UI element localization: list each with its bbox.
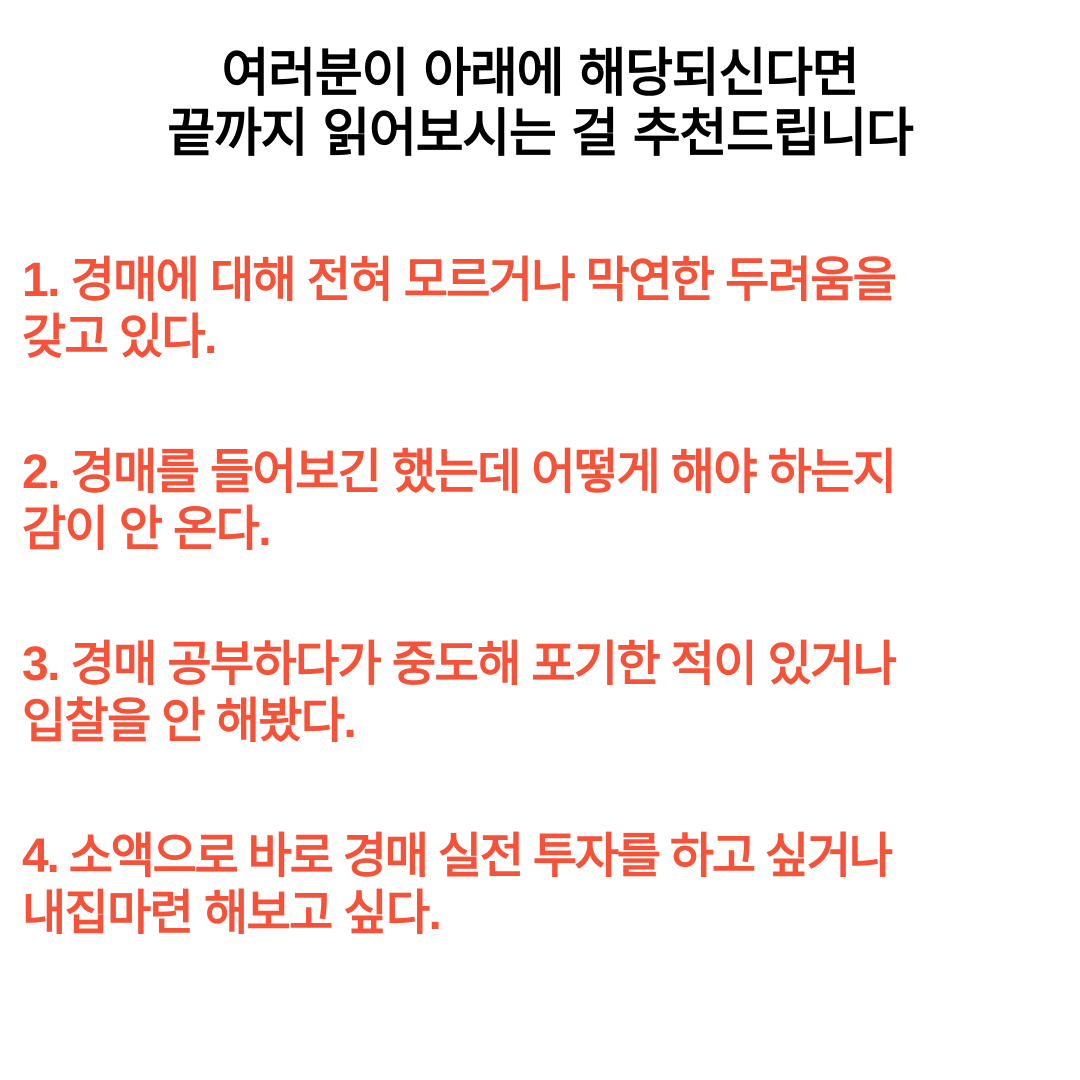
page-title-line-1: 여러분이 아래에 해당되신다면 (0, 44, 1080, 104)
list-item-4-line-1: 4. 소액으로 바로 경매 실전 투자를 하고 싶거나 (22, 828, 1080, 885)
list-item: 2. 경매를 들어보긴 했는데 어떻게 해야 하는지 감이 안 온다. (22, 444, 1080, 636)
list-item-2-line-2: 감이 안 온다. (22, 501, 1080, 558)
list-item-1-line-1: 1. 경매에 대해 전혀 모르거나 막연한 두려움을 (22, 252, 1080, 309)
list-item-1-line-2: 갖고 있다. (22, 309, 1080, 366)
list-item: 1. 경매에 대해 전혀 모르거나 막연한 두려움을 갖고 있다. (22, 252, 1080, 444)
list-item-4-line-2: 내집마련 해보고 싶다. (22, 885, 1080, 942)
checklist: 1. 경매에 대해 전혀 모르거나 막연한 두려움을 갖고 있다. 2. 경매를… (22, 252, 1080, 942)
list-item-2-line-1: 2. 경매를 들어보긴 했는데 어떻게 해야 하는지 (22, 444, 1080, 501)
list-item: 3. 경매 공부하다가 중도해 포기한 적이 있거나 입찰을 안 해봤다. (22, 636, 1080, 828)
list-item: 4. 소액으로 바로 경매 실전 투자를 하고 싶거나 내집마련 해보고 싶다. (22, 828, 1080, 942)
poster-canvas: 여러분이 아래에 해당되신다면 끝까지 읽어보시는 걸 추천드립니다 1. 경매… (0, 0, 1080, 1080)
list-item-3-line-1: 3. 경매 공부하다가 중도해 포기한 적이 있거나 (22, 636, 1080, 693)
list-item-3-line-2: 입찰을 안 해봤다. (22, 693, 1080, 750)
page-title-line-2: 끝까지 읽어보시는 걸 추천드립니다 (0, 104, 1080, 164)
page-title: 여러분이 아래에 해당되신다면 끝까지 읽어보시는 걸 추천드립니다 (0, 44, 1080, 164)
